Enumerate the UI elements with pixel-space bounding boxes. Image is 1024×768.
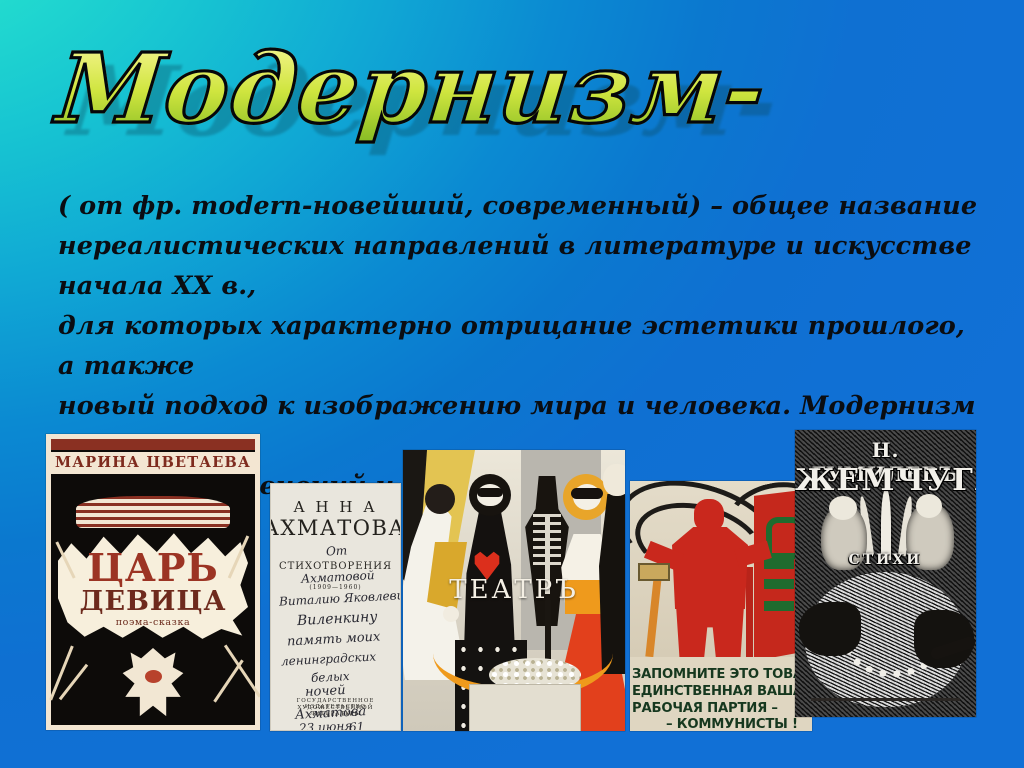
gumilev-title: ЖЕМЧУГА	[795, 463, 976, 498]
teatr-figure-white-lady-hair	[425, 484, 455, 514]
akhmatova-author-last: АХМАТОВА	[270, 516, 400, 540]
cover-gumilev: Н. ГУМИЛЕВЪ ЖЕМЧУГА СТИХИ	[795, 430, 976, 717]
poster-flag-pole	[746, 567, 753, 669]
akhmatova-signature-2: 23 июня	[299, 719, 353, 731]
akhmatova-author-first: А Н Н А	[271, 498, 400, 516]
tsvetaeva-subtitle: поэма-сказка	[46, 617, 260, 628]
cover-poster-communists: ЗАПОМНИТЕ ЭТО ТОВАРИЩИ ЕДИНСТВЕННАЯ ВАША…	[630, 481, 812, 731]
teatr-pedestal	[469, 684, 581, 731]
page-title: Модернизм-	[52, 28, 965, 150]
cover-teatr: ТЕАТРЪ	[403, 450, 625, 731]
akhmatova-handwriting-4: память моих	[287, 630, 381, 650]
presentation-slide: Модернизм- Модернизм- ( от фр. modern-но…	[0, 0, 1024, 768]
cover-akhmatova: А Н Н А АХМАТОВА От СТИХОТВОРЕНИЯ Ахмато…	[270, 483, 401, 731]
teatr-title: ТЕАТРЪ	[403, 575, 625, 605]
tsvetaeva-flower-center	[145, 670, 162, 683]
poster-line-3: РАБОЧАЯ ПАРТИЯ –	[632, 701, 812, 716]
slide-title-group: Модернизм- Модернизм-	[0, 28, 1024, 163]
tsvetaeva-title-line1: ЦАРЬ	[46, 550, 260, 586]
poster-line-4: – КОММУНИСТЫ !	[666, 717, 812, 731]
poster-worker-torso	[672, 527, 748, 609]
poster-worker-head	[694, 499, 724, 531]
poster-flag-letter-3	[764, 579, 794, 589]
teatr-garland-ball	[443, 606, 459, 622]
poster-flag-letter-4	[764, 601, 794, 611]
gumilev-figure-left-head	[829, 496, 857, 520]
akhmatova-handwriting-5: ленинградских	[281, 650, 377, 669]
tsvetaeva-title-line2: ДЕВИЦА	[46, 586, 260, 617]
tsvetaeva-wave-ornament	[76, 496, 230, 528]
body-line-2: нереалистических направлений в литератур…	[58, 226, 978, 306]
body-line-3: для которых характерно отрицание эстетик…	[58, 306, 978, 386]
tsvetaeva-author: МАРИНА ЦВЕТАЕВА	[46, 452, 260, 474]
akhmatova-inscription-marker: От	[326, 543, 348, 558]
poster-line-1: ЗАПОМНИТЕ ЭТО ТОВАРИЩИ	[632, 667, 812, 682]
gumilev-base-line	[811, 698, 960, 701]
akhmatova-handwriting-3: Виленкину	[297, 609, 378, 629]
body-line-1: ( от фр. modern-новейший, современный) –…	[58, 186, 978, 226]
gumilev-animal-left	[799, 602, 861, 656]
poster-flag-letter-2	[764, 559, 794, 569]
poster-line-2: ЕДИНСТВЕННАЯ ВАША	[632, 684, 812, 699]
cover-tsvetaeva: МАРИНА ЦВЕТАЕВА ЦАРЬ ДЕВИЦА поэма-сказка	[46, 434, 260, 730]
tsvetaeva-top-band	[51, 439, 255, 450]
gumilev-subtitle: СТИХИ	[795, 552, 976, 568]
teatr-figure-black-mask-eyemask	[477, 488, 503, 497]
poster-hammer-head	[638, 563, 670, 581]
akhmatova-signature-3: 61	[349, 720, 365, 731]
teatr-figure-right-pale-head	[603, 464, 625, 496]
gumilev-plume-center	[881, 488, 891, 560]
teatr-figure-orange-lady-eyemask	[571, 488, 603, 499]
